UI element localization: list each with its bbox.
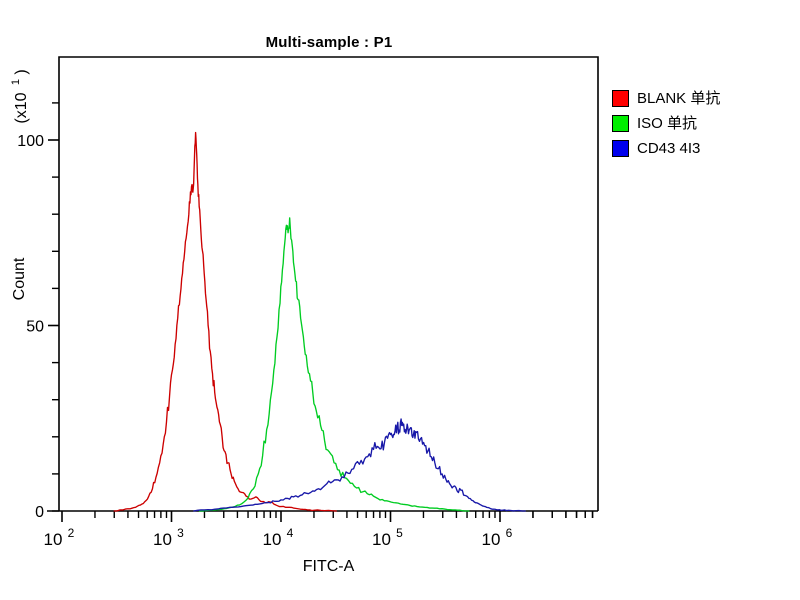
svg-text:): ) <box>13 69 30 74</box>
legend-label-cd43: CD43 4I3 <box>637 140 700 157</box>
legend-swatch-blank <box>612 90 629 107</box>
series-curve <box>199 218 468 511</box>
y-axis-label: Count <box>11 257 28 300</box>
svg-text:10: 10 <box>372 530 391 549</box>
x-tick-label: 104 <box>263 526 294 549</box>
plot-frame <box>47 57 598 511</box>
legend: BLANK 单抗 ISO 单抗 CD43 4I3 <box>612 86 792 161</box>
svg-text:10: 10 <box>153 530 172 549</box>
svg-text:10: 10 <box>263 530 282 549</box>
y-tick-label: 100 <box>17 133 44 150</box>
series-curve <box>194 419 525 511</box>
svg-text:10: 10 <box>482 530 501 549</box>
x-tick-label: 106 <box>482 526 513 549</box>
svg-text:1: 1 <box>10 79 22 85</box>
legend-label-iso: ISO 单抗 <box>637 115 697 132</box>
svg-text:5: 5 <box>396 526 403 540</box>
x-axis-ticks <box>62 511 593 522</box>
legend-item[interactable]: BLANK 单抗 <box>612 86 792 110</box>
legend-item[interactable]: CD43 4I3 <box>612 136 792 160</box>
y-axis-multiplier: (x101) <box>10 69 30 123</box>
svg-text:2: 2 <box>68 526 75 540</box>
svg-text:6: 6 <box>506 526 513 540</box>
x-tick-label: 105 <box>372 526 403 549</box>
legend-label-blank: BLANK 单抗 <box>637 90 720 107</box>
legend-item[interactable]: ISO 单抗 <box>612 111 792 135</box>
x-axis-label: FITC-A <box>303 558 355 575</box>
x-tick-label: 102 <box>44 526 75 549</box>
legend-swatch-cd43 <box>612 140 629 157</box>
series-curve <box>114 133 336 511</box>
flow-cytometry-histogram: Multi-sample : P1 501000102103104105106F… <box>0 0 800 600</box>
x-tick-label: 103 <box>153 526 184 549</box>
svg-text:10: 10 <box>44 530 63 549</box>
legend-swatch-iso <box>612 115 629 132</box>
svg-text:3: 3 <box>177 526 184 540</box>
svg-text:4: 4 <box>287 526 294 540</box>
y-tick-label: 50 <box>26 319 44 336</box>
svg-text:(x10: (x10 <box>13 92 30 123</box>
y-tick-label-zero: 0 <box>35 504 44 521</box>
y-axis-ticks <box>48 103 59 511</box>
